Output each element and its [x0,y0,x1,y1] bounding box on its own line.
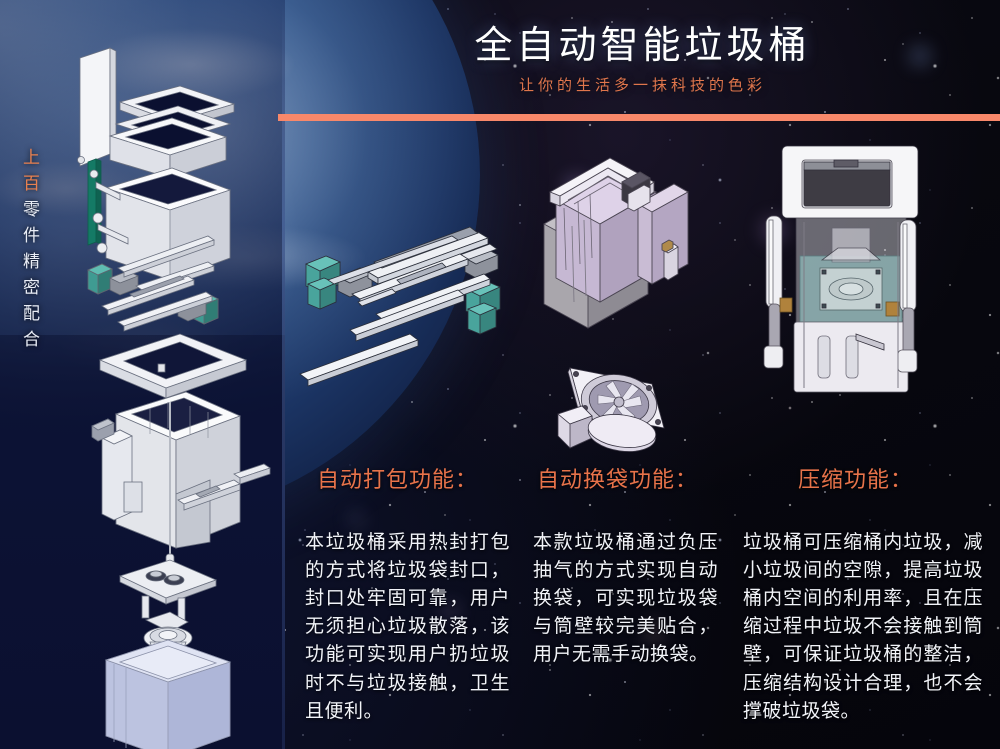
poster-root: 上百零件精密配合 全自动智能垃圾桶 让你的生活多一抹科技的色彩 自动打包功能： … [0,0,1000,749]
feature-body: 本款垃圾桶通过负压抽气的方式实现自动换袋，可实现垃圾袋与筒壁较完美贴合，用户无需… [533,528,718,669]
feature-column-compression: 压缩功能： 垃圾桶可压缩桶内垃圾，减小垃圾间的空隙，提高垃圾桶内空间的利用率，且… [743,462,983,725]
feature-column-packing: 自动打包功能： 本垃圾桶采用热封打包的方式将垃圾袋封口，封口处牢固可靠，用户无须… [305,462,510,725]
feature-heading: 自动换袋功能： [537,462,718,494]
blower-fan-cad [536,358,696,462]
exploded-view-cad [58,42,278,742]
packing-mechanism-cad [292,222,522,402]
vertical-slogan-highlight: 上百 [19,148,39,200]
page-title: 全自动智能垃圾桶 [285,14,1000,69]
feature-body: 垃圾桶可压缩桶内垃圾，减小垃圾间的空隙，提高垃圾桶内空间的利用率，且在压缩过程中… [743,528,983,725]
feature-heading: 自动打包功能： [317,462,510,494]
vertical-slogan-rest: 零件精密配合 [19,200,39,356]
left-panel: 上百零件精密配合 [0,0,285,749]
feature-body: 本垃圾桶采用热封打包的方式将垃圾袋封口，封口处牢固可靠，用户无须担心垃圾散落，该… [305,528,510,725]
vertical-slogan: 上百零件精密配合 [20,148,37,356]
page-subtitle: 让你的生活多一抹科技的色彩 [285,74,1000,95]
header-divider [278,114,1000,121]
feature-column-bag-change: 自动换袋功能： 本款垃圾桶通过负压抽气的方式实现自动换袋，可实现垃圾袋与筒壁较完… [533,462,718,669]
feature-columns: 自动打包功能： 本垃圾桶采用热封打包的方式将垃圾袋封口，封口处牢固可靠，用户无须… [285,462,1000,749]
header: 全自动智能垃圾桶 让你的生活多一抹科技的色彩 [285,0,1000,120]
bag-change-module-cad [528,152,728,328]
feature-heading: 压缩功能： [798,462,983,494]
compression-assembly-cad [760,138,960,438]
